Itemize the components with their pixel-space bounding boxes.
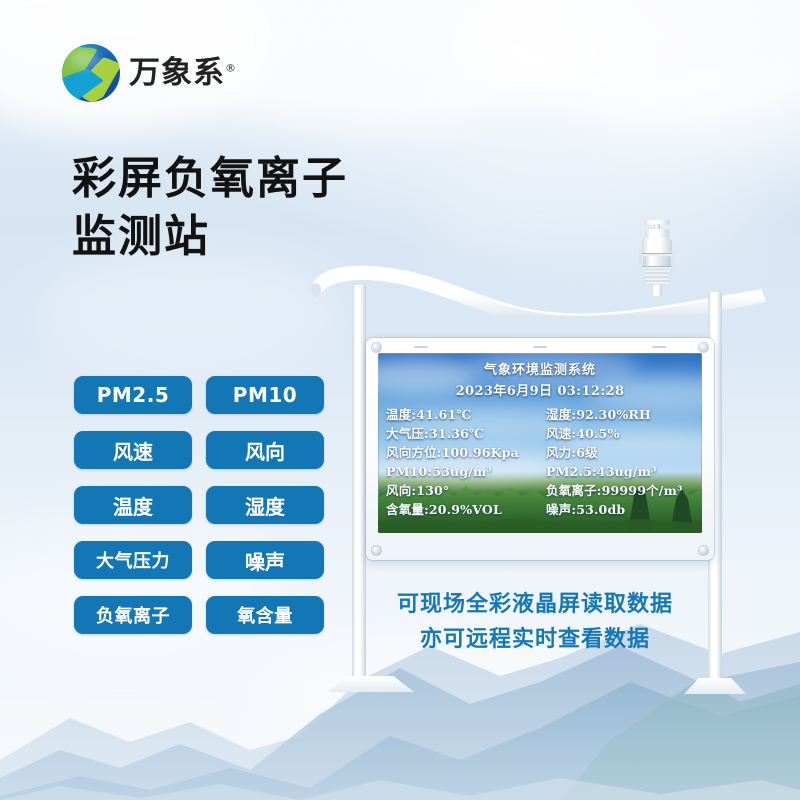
measurement-tag-grid: PM2.5 PM10 风速 风向 温度 湿度 大气压力 噪声 负氧离子 氧含量: [74, 376, 324, 634]
base-plate-left-icon: [328, 676, 414, 692]
base-plate-right-icon: [684, 678, 746, 694]
screw-icon: [699, 546, 708, 555]
vent-slot: [533, 346, 547, 348]
caption-line-2: 亦可远程实时查看数据: [380, 623, 690, 658]
registered-mark: ®: [225, 61, 237, 74]
lcd-display-cabinet: 气象环境监测系统 2023年6月9日 03:12:28 温度:41.61℃ 湿度…: [366, 338, 714, 560]
support-pole-left-icon: [352, 285, 366, 683]
vent-slot: [414, 346, 428, 348]
screen-value-winddirection: 风向:130°: [386, 481, 546, 500]
tag-pm25[interactable]: PM2.5: [74, 376, 192, 414]
screen-title: 气象环境监测系统: [378, 353, 702, 378]
screen-data-rows: 温度:41.61℃ 湿度:92.30%RH 大气压:31.36℃ 风速:40.5…: [378, 405, 702, 519]
screen-row: 温度:41.61℃ 湿度:92.30%RH: [386, 405, 694, 424]
brand-logo: 万象系®: [62, 44, 237, 102]
feature-caption: 可现场全彩液晶屏读取数据 亦可远程实时查看数据: [380, 588, 690, 658]
screw-icon: [372, 546, 381, 555]
screen-value-anion: 负氧离子:99999个/m³: [546, 481, 694, 500]
screen-value-winddirection-bearing: 风向方位:100.96Kpa: [386, 443, 546, 462]
screen-value-oxygen: 含氧量:20.9%VOL: [386, 500, 546, 519]
s-curve-canopy-icon: [300, 256, 770, 318]
brand-name: 万象系®: [129, 58, 237, 89]
screen-row: 风向:130° 负氧离子:99999个/m³: [386, 481, 694, 500]
screen-row: PM10:53ug/m³ PM2.5:43ug/m³: [386, 462, 694, 481]
tag-temp[interactable]: 温度: [74, 486, 192, 524]
tag-pressure[interactable]: 大气压力: [74, 541, 192, 579]
screen-row: 含氧量:20.9%VOL 噪声:53.0db: [386, 500, 694, 519]
poster-canvas: 万象系® 彩屏负氧离子 监测站 PM2.5 PM10 风速 风向 温度 湿度 大…: [0, 0, 800, 800]
cloud-shape: [40, 250, 340, 370]
cloud-shape: [600, 55, 800, 165]
screen-value-pressure: 大气压:31.36℃: [386, 424, 546, 443]
caption-line-1: 可现场全彩液晶屏读取数据: [380, 588, 690, 623]
screen-row: 大气压:31.36℃ 风速:40.5%: [386, 424, 694, 443]
vent-slot: [652, 346, 666, 348]
screen-value-temperature: 温度:41.61℃: [386, 405, 546, 424]
screen-datetime: 2023年6月9日 03:12:28: [378, 378, 702, 399]
screen-value-pm10: PM10:53ug/m³: [386, 462, 546, 481]
lcd-screen[interactable]: 气象环境监测系统 2023年6月9日 03:12:28 温度:41.61℃ 湿度…: [378, 353, 702, 533]
cloud-shape: [470, 0, 800, 120]
screen-value-windspeed: 风速:40.5%: [546, 424, 694, 443]
headline-line-1: 彩屏负氧离子: [72, 150, 348, 208]
globe-swirl-logo-icon: [62, 44, 120, 102]
screen-value-noise: 噪声:53.0db: [546, 500, 694, 519]
screw-icon: [699, 343, 708, 352]
brand-name-text: 万象系: [129, 55, 225, 91]
tag-windspeed[interactable]: 风速: [74, 431, 192, 469]
screen-readout: 气象环境监测系统 2023年6月9日 03:12:28 温度:41.61℃ 湿度…: [378, 353, 702, 533]
screen-value-pm25: PM2.5:43ug/m³: [546, 462, 694, 481]
screen-value-humidity: 湿度:92.30%RH: [546, 405, 694, 424]
screw-icon: [372, 343, 381, 352]
screen-value-windforce: 风力:6级: [546, 443, 694, 462]
screen-row: 风向方位:100.96Kpa 风力:6级: [386, 443, 694, 462]
tag-anion[interactable]: 负氧离子: [74, 596, 192, 634]
